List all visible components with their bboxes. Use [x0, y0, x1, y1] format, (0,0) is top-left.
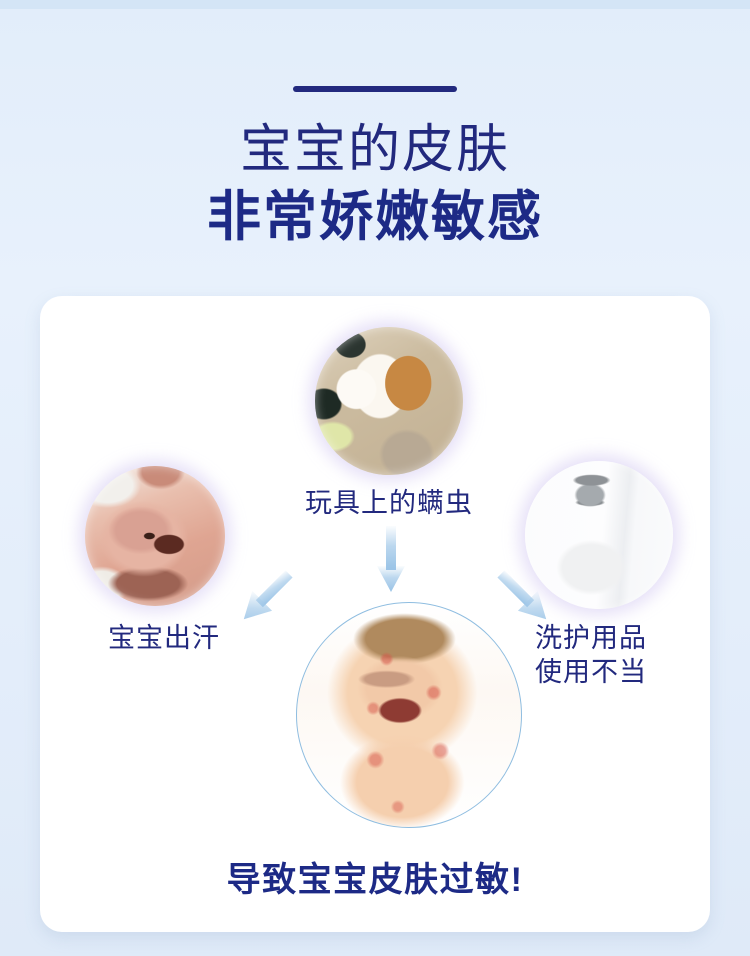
arrow-down-right-icon [220, 558, 310, 638]
crying-baby-with-rash-photo [296, 602, 522, 828]
plush-dog-toy-photo [315, 327, 463, 475]
promo-page: 宝宝的皮肤 非常娇嫩敏感 玩具上的螨虫 宝宝出汗 洗护用品 使用不当 [0, 0, 750, 956]
page-title-line2: 非常娇嫩敏感 [0, 186, 750, 248]
page-title-line1: 宝宝的皮肤 [0, 120, 750, 180]
crying-newborn-photo [85, 466, 225, 606]
arrow-down-left-icon [480, 558, 570, 638]
conclusion-text: 导致宝宝皮肤过敏! [40, 852, 710, 901]
decorative-rule [293, 86, 457, 92]
arrow-down-icon [373, 526, 409, 596]
cause-label-toy-mites: 玩具上的螨虫 [285, 486, 493, 520]
cause-label-baby-sweat: 宝宝出汗 [88, 621, 240, 655]
causes-card: 玩具上的螨虫 宝宝出汗 洗护用品 使用不当 [40, 296, 710, 932]
page-header: 宝宝的皮肤 非常娇嫩敏感 [0, 0, 750, 248]
